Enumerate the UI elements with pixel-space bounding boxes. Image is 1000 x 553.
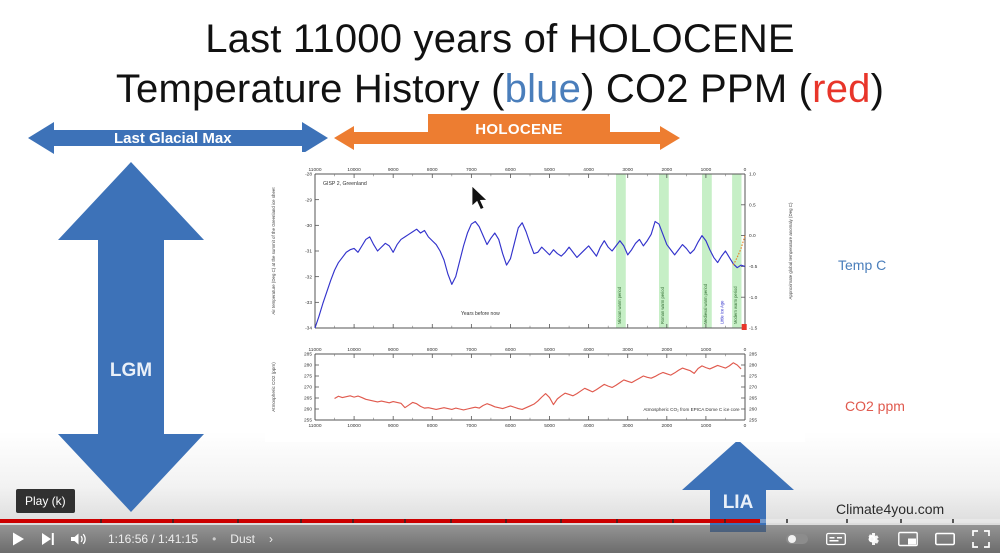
player-controls-right: [785, 525, 990, 553]
co2-y2-tick-label: 275: [749, 374, 757, 380]
co2-y-tick-label: 275: [304, 374, 312, 380]
video-frame: Last 11000 years of HOLOCENE Temperature…: [0, 0, 1000, 553]
y-tick-label: -32: [305, 274, 312, 280]
x-tick-label: 9000: [388, 167, 399, 173]
climate-figure: 1100010000900080007000600050004000300020…: [265, 152, 805, 442]
lgm-label: LGM: [58, 360, 204, 382]
y2-tick-label: 0.0: [749, 233, 756, 239]
co2-x-tick-label-top: 5000: [544, 347, 555, 353]
band-label: Minoan warm period: [617, 286, 622, 324]
legend-temp-label: Temp C: [838, 257, 886, 273]
co2-y2-tick-label: 265: [749, 396, 757, 402]
co2-y-axis-title: Atmospheric CO2 (ppm): [271, 362, 276, 412]
co2-y2-tick-label: 280: [749, 363, 757, 369]
co2-y2-tick-label: 260: [749, 407, 757, 413]
y-tick-label: -30: [305, 223, 312, 229]
title-word-red: red: [812, 67, 870, 111]
theater-mode-icon[interactable]: [935, 531, 955, 547]
time-display: 1:16:56 / 1:41:15: [108, 532, 198, 546]
progress-bar[interactable]: [0, 519, 1000, 523]
play-tooltip: Play (k): [16, 489, 75, 513]
holocene-charts-svg: 1100010000900080007000600050004000300020…: [265, 152, 805, 442]
holocene-banner: HOLOCENE: [428, 114, 610, 144]
title-part-c: ): [871, 67, 885, 111]
co2-y-tick-label: 270: [304, 385, 312, 391]
co2-x-tick-label-top: 4000: [583, 347, 594, 353]
co2-x-tick-label-top: 8000: [427, 347, 438, 353]
title-part-b: ) CO2 PPM (: [581, 67, 812, 111]
volume-icon[interactable]: [70, 531, 88, 547]
y2-tick-label: 1.0: [749, 172, 756, 178]
co2-chart: 1100010000900080007000600050004000300020…: [271, 347, 757, 429]
miniplayer-icon[interactable]: [898, 531, 918, 547]
holocene-label: HOLOCENE: [475, 121, 562, 138]
co2-x-tick-label-top: 9000: [388, 347, 399, 353]
chapter-chevron-icon[interactable]: ›: [269, 532, 273, 546]
co2-x-tick-label-top: 6000: [505, 347, 516, 353]
co2-y2-tick-label: 285: [749, 352, 757, 358]
x-tick-label: 6000: [505, 167, 516, 173]
years-before-now-label: Years before now: [461, 311, 500, 317]
co2-x-tick-label-bottom: 3000: [622, 423, 633, 429]
player-controls-left: 1:16:56 / 1:41:15 • Dust ›: [10, 525, 273, 553]
y-tick-label: -33: [305, 300, 312, 306]
y-tick-label: -31: [305, 249, 312, 255]
y2-tick-label: -1.0: [749, 295, 758, 301]
title-word-blue: blue: [505, 67, 581, 111]
co2-x-tick-label-bottom: 1000: [701, 423, 712, 429]
co2-y-tick-label: 255: [304, 418, 312, 424]
co2-x-tick-label-top: 3000: [622, 347, 633, 353]
co2-x-tick-label-bottom: 4000: [583, 423, 594, 429]
co2-y2-tick-label: 255: [749, 418, 757, 424]
play-icon[interactable]: [10, 531, 26, 547]
co2-x-tick-label-top: 10000: [347, 347, 361, 353]
x-tick-label: 4000: [583, 167, 594, 173]
co2-y-tick-label: 265: [304, 396, 312, 402]
band-label: Medieval warm period: [703, 283, 708, 324]
x-tick-label: 0: [744, 167, 747, 173]
co2-x-tick-label-top: 7000: [466, 347, 477, 353]
co2-x-tick-label-bottom: 2000: [661, 423, 672, 429]
mouse-cursor: [472, 186, 492, 214]
lia-label: LIA: [682, 492, 794, 514]
modern-red-marker: [742, 324, 747, 330]
time-separator: •: [212, 532, 216, 546]
legend-co2-label: CO2 ppm: [845, 398, 905, 414]
co2-y-tick-label: 285: [304, 352, 312, 358]
temperature-chart: 1100010000900080007000600050004000300020…: [271, 167, 793, 332]
co2-y-tick-label: 280: [304, 363, 312, 369]
title-line-2: Temperature History (blue) CO2 PPM (red): [0, 64, 1000, 114]
brand-watermark: Climate4you.com: [836, 501, 944, 517]
x-tick-label: 8000: [427, 167, 438, 173]
co2-x-tick-label-bottom: 6000: [505, 423, 516, 429]
title-line-1: Last 11000 years of HOLOCENE: [0, 14, 1000, 64]
y-tick-label: -28: [305, 172, 312, 178]
co2-y2-tick-label: 270: [749, 385, 757, 391]
lgm-vertical-arrow: [58, 162, 204, 512]
autoplay-toggle-icon[interactable]: [785, 532, 809, 546]
band-label: Roman warm period: [660, 286, 665, 324]
co2-x-tick-label-bottom: 10000: [347, 423, 361, 429]
gisp2-annotation: GISP 2, Greenland: [323, 181, 367, 187]
y-tick-label: -29: [305, 197, 312, 203]
temp-y-axis-title: Air temperature (Deg C) at the summit of…: [271, 187, 276, 315]
last-glacial-max-label: Last Glacial Max: [114, 130, 232, 147]
y2-tick-label: 0.5: [749, 202, 756, 208]
x-tick-label: 5000: [544, 167, 555, 173]
co2-x-tick-label-bottom: 7000: [466, 423, 477, 429]
chapter-title[interactable]: Dust: [230, 532, 255, 546]
x-tick-label: 10000: [347, 167, 361, 173]
co2-x-tick-label-top: 1000: [701, 347, 712, 353]
subtitles-cc-icon[interactable]: [826, 532, 846, 546]
gear-icon[interactable]: [863, 530, 881, 548]
x-tick-label: 3000: [622, 167, 633, 173]
co2-x-tick-label-top: 2000: [661, 347, 672, 353]
chapter-markers: [0, 519, 1000, 523]
co2-x-tick-label-bottom: 11000: [309, 423, 322, 429]
y-tick-label: -34: [305, 326, 312, 332]
co2-x-tick-label-bottom: 9000: [388, 423, 399, 429]
fullscreen-icon[interactable]: [972, 530, 990, 548]
y2-tick-label: -0.5: [749, 264, 758, 270]
annotation-label: Little Ice Age: [720, 300, 725, 324]
page-title: Last 11000 years of HOLOCENE Temperature…: [0, 14, 1000, 114]
x-tick-label: 1000: [701, 167, 712, 173]
x-tick-label: 2000: [661, 167, 672, 173]
epica-annotation: Atmospheric CO₂ from EPICA Dome C ice co…: [643, 407, 740, 412]
co2-x-tick-label-bottom: 8000: [427, 423, 438, 429]
co2-x-tick-label-bottom: 0: [744, 423, 747, 429]
next-track-icon[interactable]: [40, 531, 56, 547]
band-label: Modern warm period: [733, 286, 738, 324]
y2-tick-label: -1.5: [749, 326, 758, 332]
title-part-a: Temperature History (: [116, 67, 505, 111]
x-tick-label: 7000: [466, 167, 477, 173]
temp-y2-axis-title: Approximate global temperature anomaly (…: [788, 202, 793, 299]
co2-x-tick-label-bottom: 5000: [544, 423, 555, 429]
co2-x-tick-label-top: 0: [744, 347, 747, 353]
co2-y-tick-label: 260: [304, 407, 312, 413]
